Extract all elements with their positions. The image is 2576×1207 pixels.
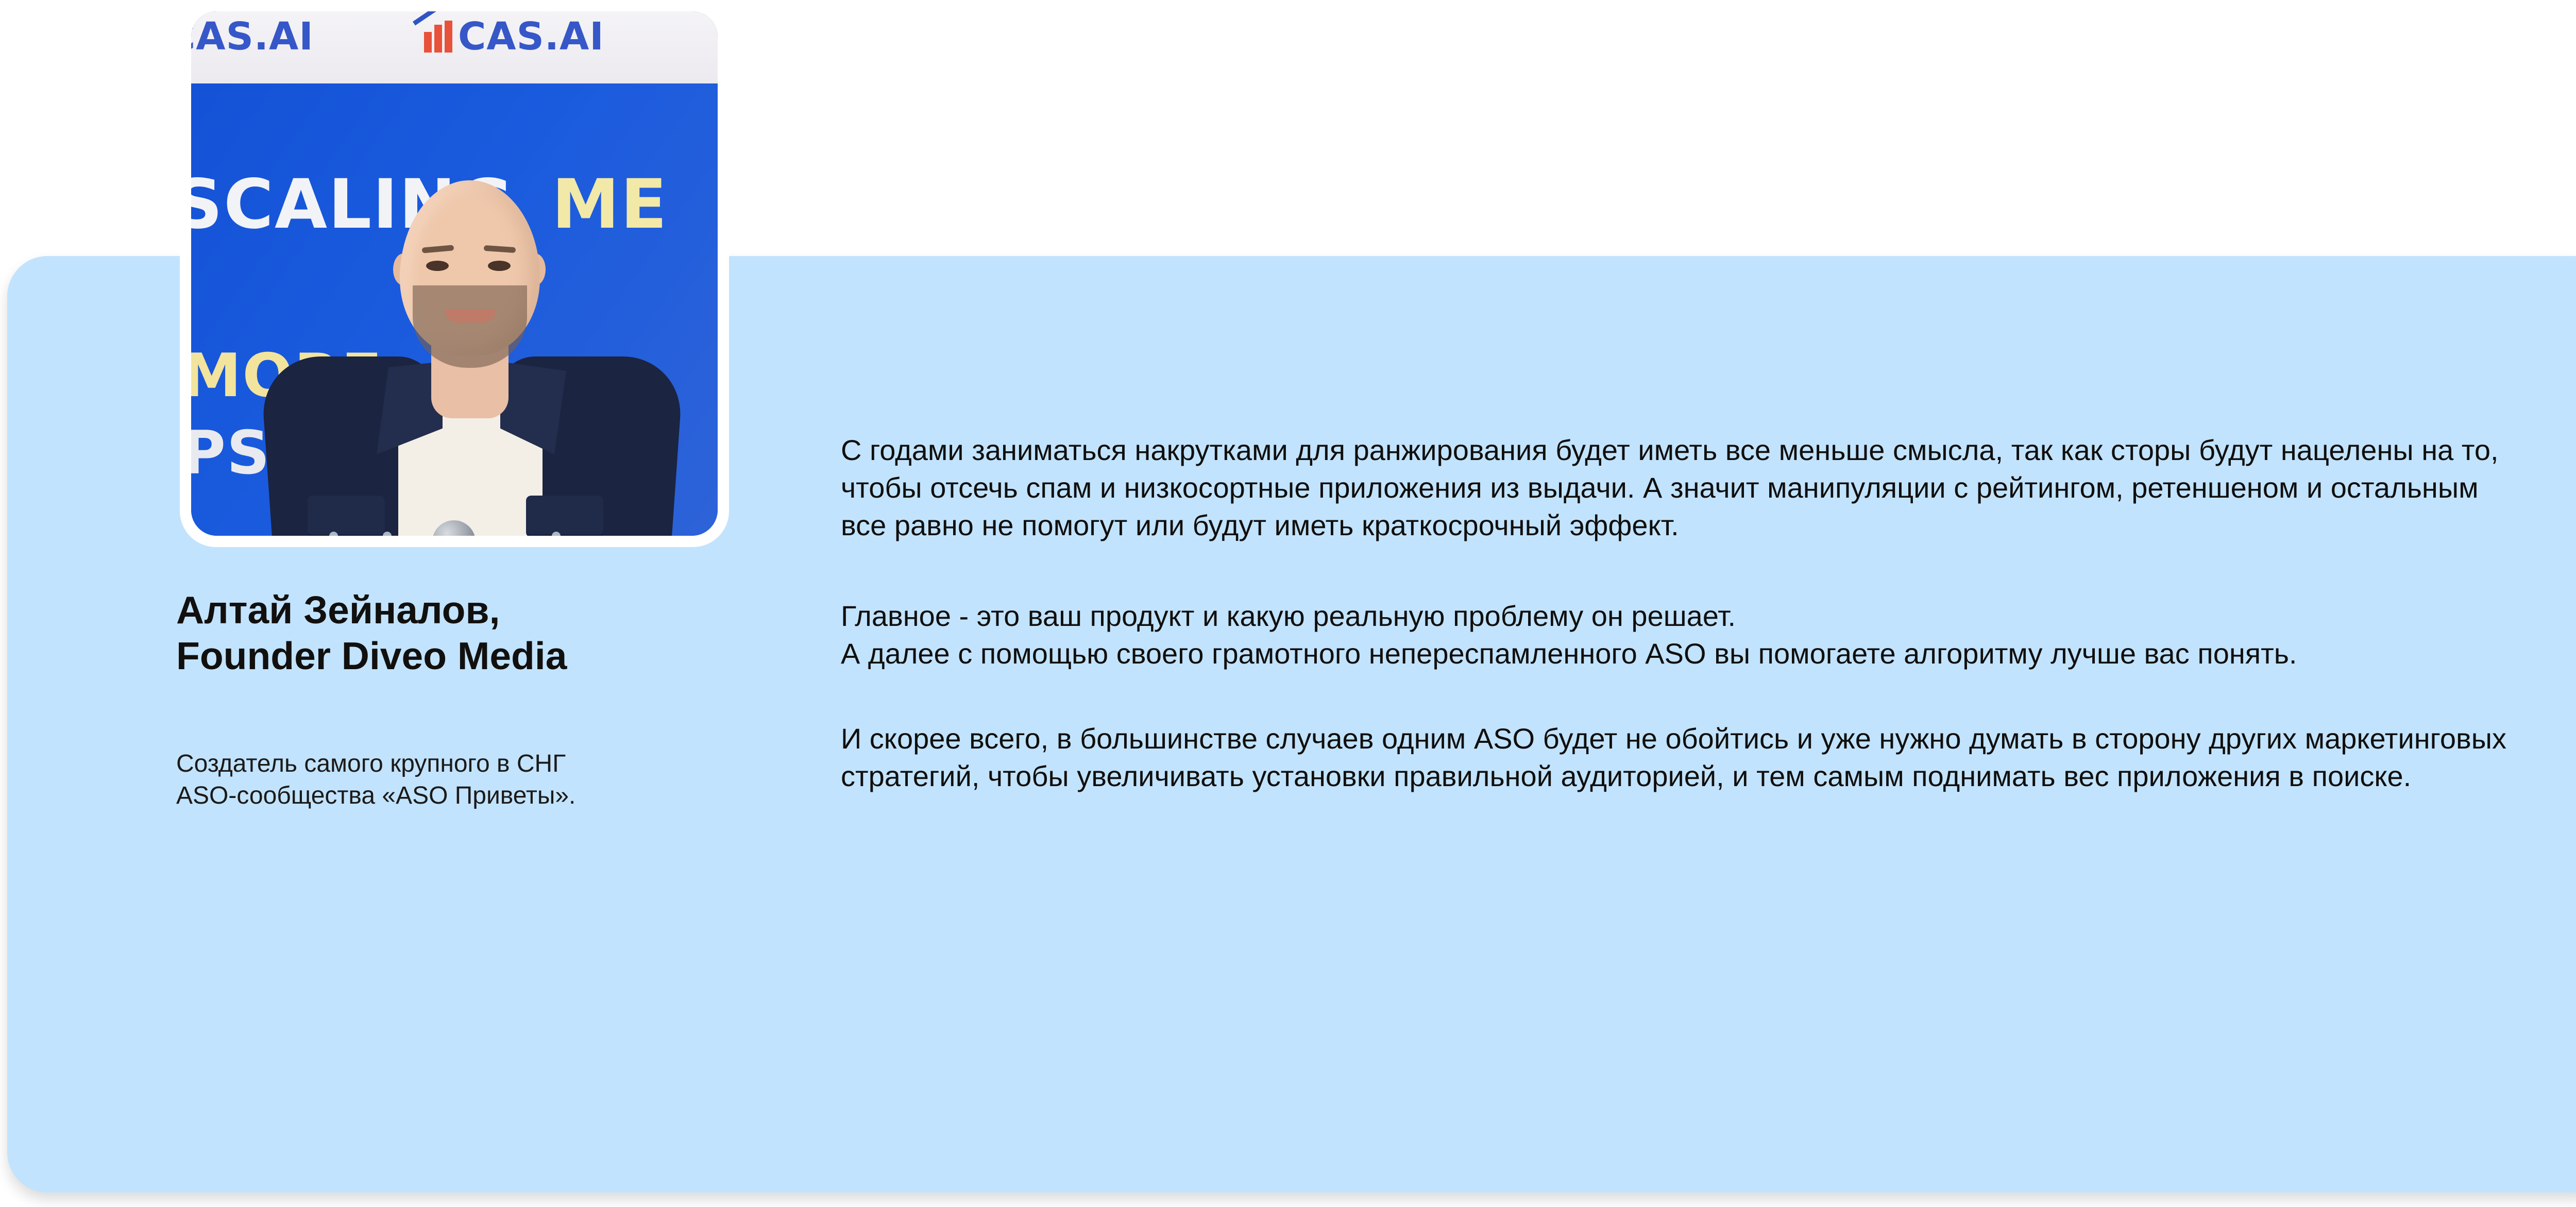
jacket-pocket-left — [308, 496, 385, 536]
eye-right — [488, 261, 511, 271]
paragraph-spacer — [841, 544, 2526, 598]
speaker-photo: CAS.AI CAS.AI SCALING ME MORE PS? — [191, 11, 718, 536]
backdrop-banner-strip: CAS.AI CAS.AI — [191, 11, 718, 83]
speaker-subtitle-block: Создатель самого крупного в СНГ ASO-сооб… — [176, 748, 784, 812]
beard — [413, 285, 527, 368]
eye-left — [426, 261, 449, 271]
speaker-name-line-2: Founder Diveo Media — [176, 633, 784, 679]
speaker-subtitle-line-2: ASO-сообщества «ASO Приветы». — [176, 780, 784, 812]
mouth — [445, 309, 496, 322]
speaker-name-line-1: Алтай Зейналов, — [176, 587, 784, 633]
quote-paragraph-1: С годами заниматься накрутками для ранжи… — [841, 432, 2526, 544]
speaker-name-block: Алтай Зейналов, Founder Diveo Media — [176, 587, 784, 678]
cas-ai-logo-right: CAS.AI — [413, 14, 604, 59]
cas-ai-logo-left: CAS.AI — [191, 14, 314, 59]
quote-text-column: С годами заниматься накрутками для ранжи… — [841, 432, 2526, 795]
speaker-figure — [191, 83, 718, 536]
cas-ai-logo-right-text: CAS.AI — [458, 14, 604, 59]
bar-chart-arrow-icon — [413, 21, 453, 53]
backdrop-blue-panel: SCALING ME MORE PS? — [191, 83, 718, 536]
quote-paragraph-3: И скорее всего, в большинстве случаев од… — [841, 720, 2526, 795]
speaker-subtitle-line-1: Создатель самого крупного в СНГ — [176, 748, 784, 780]
paragraph-spacer — [841, 673, 2526, 720]
profile-column: CAS.AI CAS.AI SCALING ME MORE PS? — [0, 0, 804, 1207]
cas-ai-logo-left-text: CAS.AI — [191, 14, 314, 59]
jacket-pocket-right — [526, 496, 603, 536]
speaker-photo-frame: CAS.AI CAS.AI SCALING ME MORE PS? — [180, 0, 729, 547]
quote-paragraph-2: Главное - это ваш продукт и какую реальн… — [841, 598, 2526, 673]
